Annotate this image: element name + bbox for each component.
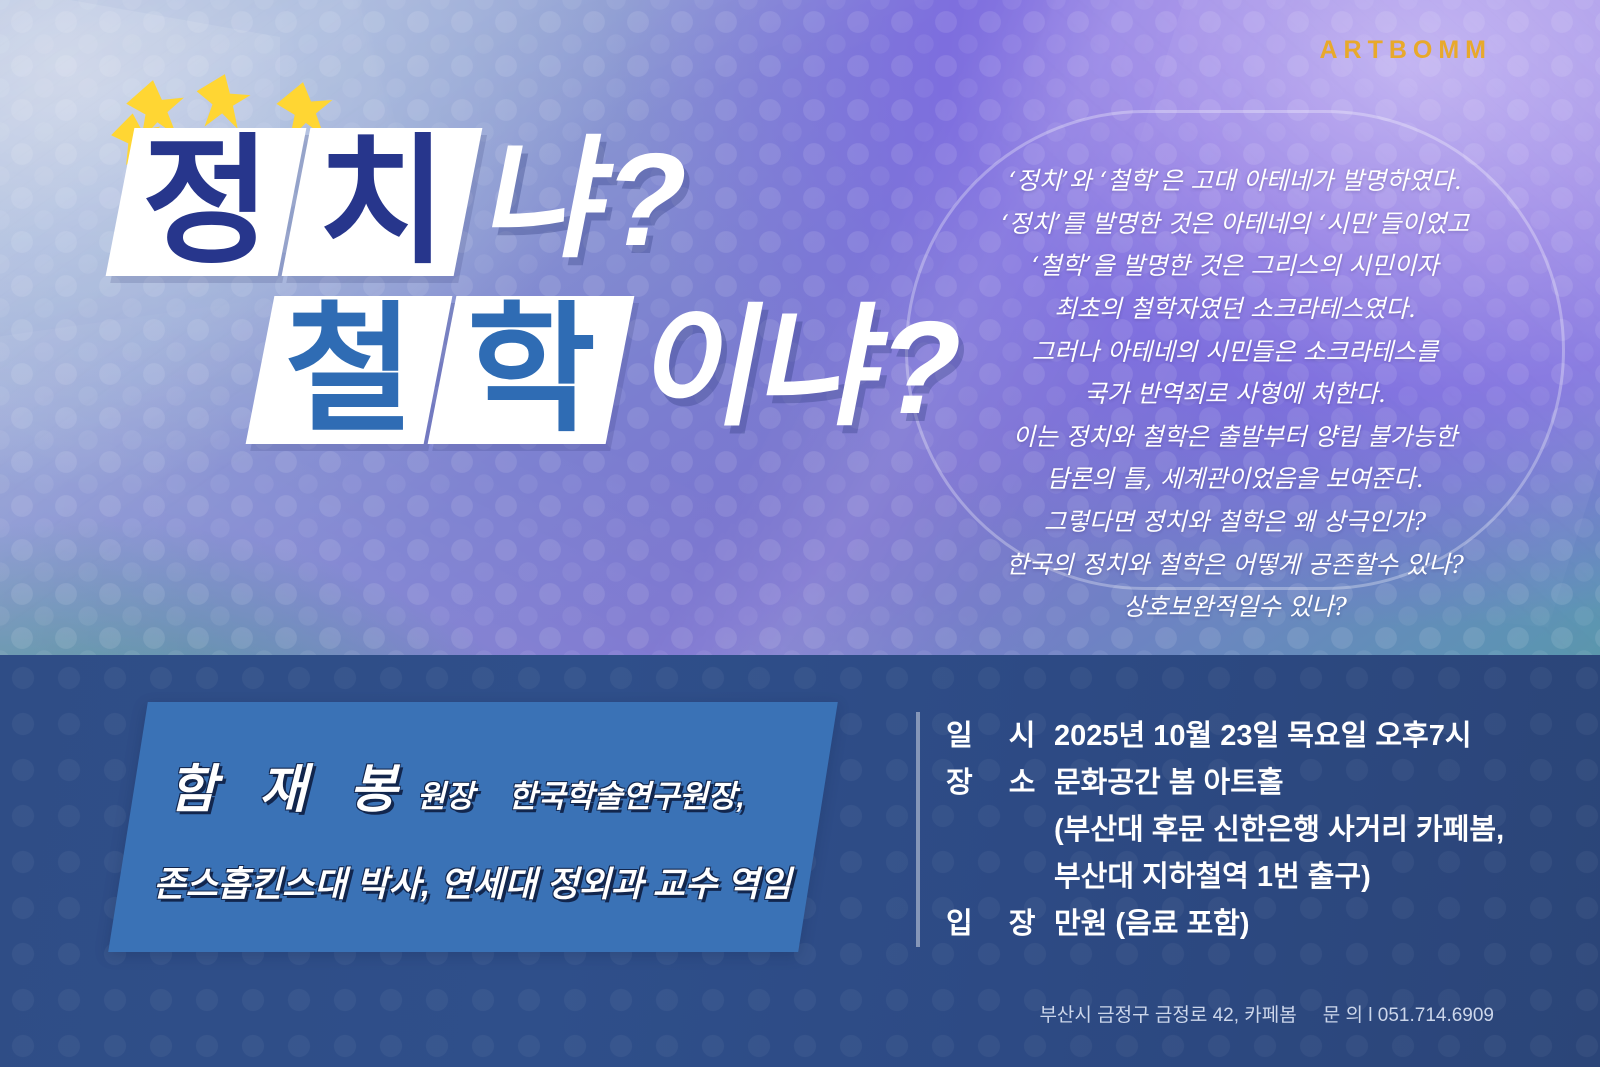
intro-line: 상호보완적일수 있나?	[915, 586, 1555, 629]
detail-subrow: (부산대 후문 신한은행 사거리 카페봄,	[946, 806, 1504, 848]
detail-label: 장 소	[946, 759, 1054, 801]
speaker-bio: 존스홉킨스대 박사, 연세대 정외과 교수 역임	[153, 856, 791, 907]
intro-line: 국가 반역죄로 사형에 처한다.	[915, 373, 1555, 416]
intro-paragraph: ‘정치’와 ‘철학’은 고대 아테네가 발명하였다.‘정치’를 발명한 것은 아…	[915, 160, 1555, 629]
headline-line-2: 철 학 이냐?	[260, 296, 959, 444]
headline-boxed-char: 정	[106, 128, 307, 276]
poster-root: ARTBOMM 정 치 냐? 철 학 이냐? ‘정치’와 ‘철학’은 고대 아테…	[0, 0, 1600, 1067]
poster-headline: 정 치 냐? 철 학 이냐?	[120, 128, 959, 444]
detail-extra-value: 부산대 지하철역 1번 출구)	[1054, 853, 1371, 895]
detail-subrow: 부산대 지하철역 1번 출구)	[946, 853, 1504, 895]
intro-line: ‘철학’을 발명한 것은 그리스의 시민이자	[915, 245, 1555, 288]
speaker-content: 함 재 봉원장한국학술연구원장, 존스홉킨스대 박사, 연세대 정외과 교수 역…	[108, 702, 838, 952]
footer-contact: 부산시 금정구 금정로 42, 카페봄문 의 l 051.714.6909	[1039, 1000, 1494, 1027]
artbomm-logo: ARTBOMM	[1319, 36, 1492, 65]
speaker-title-line: 함 재 봉원장한국학술연구원장,	[169, 747, 791, 822]
headline-char: 철	[285, 300, 414, 440]
detail-row: 입 장만원 (음료 포함)	[946, 900, 1504, 942]
speaker-name: 함 재 봉	[169, 747, 411, 822]
headline-boxed-char: 학	[428, 296, 635, 444]
detail-extra-value: (부산대 후문 신한은행 사거리 카페봄,	[1054, 806, 1504, 848]
headline-tail: 냐?	[475, 134, 697, 266]
intro-line: 그러나 아테네의 시민들은 소크라테스를	[915, 331, 1555, 374]
headline-boxed-char: 철	[246, 296, 453, 444]
footer-phone: 문 의 l 051.714.6909	[1323, 1005, 1494, 1026]
detail-row: 일 시2025년 10월 23일 목요일 오후7시	[946, 712, 1504, 754]
intro-line: 한국의 정치와 철학은 어떻게 공존할수 있나?	[915, 544, 1555, 587]
intro-line: 그렇다면 정치와 철학은 왜 상극인가?	[915, 501, 1555, 544]
event-details: 일 시2025년 10월 23일 목요일 오후7시장 소문화공간 봄 아트홀(부…	[916, 712, 1504, 947]
footer-address: 부산시 금정구 금정로 42, 카페봄	[1039, 1005, 1296, 1026]
intro-line: ‘정치’를 발명한 것은 아테네의 ‘시민’들이었고	[915, 203, 1555, 246]
speaker-organization: 한국학술연구원장,	[508, 771, 745, 816]
detail-label: 입 장	[946, 900, 1054, 942]
intro-line: 담론의 틀, 세계관이었음을 보여준다.	[915, 458, 1555, 501]
detail-value: 만원 (음료 포함)	[1054, 900, 1250, 942]
headline-boxed-char: 치	[282, 128, 483, 276]
intro-line: ‘정치’와 ‘철학’은 고대 아테네가 발명하였다.	[915, 160, 1555, 203]
detail-row: 장 소문화공간 봄 아트홀	[946, 759, 1504, 801]
intro-line: 최초의 철학자였던 소크라테스였다.	[915, 288, 1555, 331]
headline-char: 치	[318, 132, 447, 272]
headline-char: 학	[467, 300, 596, 440]
detail-label: 일 시	[946, 712, 1054, 754]
detail-value: 문화공간 봄 아트홀	[1054, 759, 1284, 801]
speaker-role: 원장	[417, 771, 474, 816]
headline-char: 정	[142, 132, 271, 272]
intro-line: 이는 정치와 철학은 출발부터 양립 불가능한	[915, 416, 1555, 459]
detail-value: 2025년 10월 23일 목요일 오후7시	[1054, 712, 1472, 754]
headline-line-1: 정 치 냐?	[120, 128, 959, 276]
speaker-bio-line: 존스홉킨스대 박사, 연세대 정외과 교수 역임	[153, 856, 775, 907]
